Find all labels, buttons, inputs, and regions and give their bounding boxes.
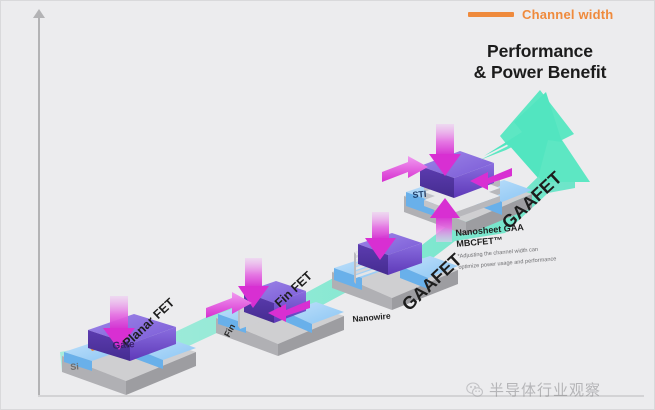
page-title: Performance & Power Benefit xyxy=(452,41,628,83)
watermark-text: 半导体行业观察 xyxy=(489,379,601,400)
title-line-1: Performance xyxy=(452,41,628,62)
watermark: 半导体行业观察 xyxy=(466,379,601,400)
device-fin-fet xyxy=(206,258,344,356)
channel-width-legend-swatch-icon xyxy=(468,12,514,17)
vertical-axis xyxy=(38,14,40,397)
vertical-axis-arrow-icon xyxy=(33,9,45,18)
legend: Channel width xyxy=(468,7,613,22)
substrate-label-si: Si xyxy=(70,361,79,372)
gate-label: Gate xyxy=(112,339,135,352)
nanosheet-note: Nanosheet GAA MBCFET™ *Adjusting the cha… xyxy=(455,219,557,272)
wechat-logo-icon xyxy=(466,381,484,399)
sti-label: STI xyxy=(412,189,427,200)
legend-label: Channel width xyxy=(522,7,613,22)
diagram-canvas: Channel width Performance & Power Benefi… xyxy=(0,0,655,410)
title-line-2: & Power Benefit xyxy=(452,62,628,83)
